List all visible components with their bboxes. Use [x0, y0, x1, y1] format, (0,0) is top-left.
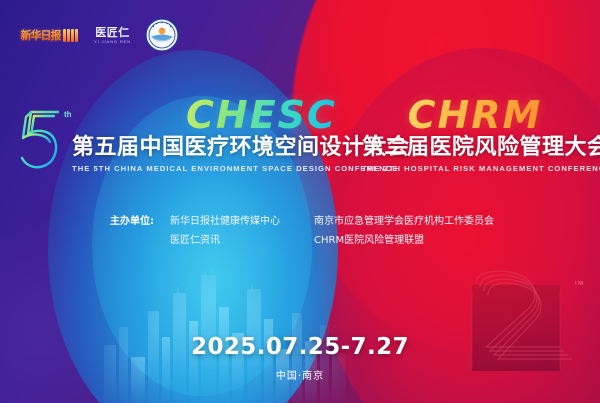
- conference-poster: TM 新华日报 医匠仁 YI JIANG REN: [0, 0, 600, 403]
- organizers-column-one: 新华日报社健康传媒中心 医匠仁资讯: [170, 212, 280, 250]
- trademark-symbol: TM: [574, 281, 583, 287]
- news-logo-bars: [63, 29, 78, 42]
- title-cn-chesc: 第五届中国医疗环境空间设计大会: [72, 135, 362, 160]
- event-location: 中国·南京: [0, 367, 600, 382]
- yijiangren-logo-cn: 医匠仁: [94, 27, 131, 38]
- yijiangren-logo-en: YI JIANG REN: [94, 40, 131, 44]
- title-cn-chrm: 第二届医院风险管理大会: [362, 135, 588, 160]
- edition-number-5-icon: [14, 104, 70, 174]
- edition-suffix: th: [64, 110, 72, 119]
- sponsor-logo-strip: 新华日报 医匠仁 YI JIANG REN: [18, 18, 179, 52]
- organizer-item: CHRM医院风险管理联盟: [314, 231, 494, 250]
- acronym-chesc: CHESC: [186, 96, 362, 134]
- news-logo-text: 新华日报: [21, 27, 61, 43]
- title-en-chesc: THE 5TH CHINA MEDICAL ENVIRONMENT SPACE …: [72, 164, 362, 173]
- organizer-item: 新华日报社健康传媒中心: [170, 212, 280, 231]
- organizers-label: 主办单位:: [110, 212, 154, 231]
- acronym-chrm: CHRM: [362, 96, 588, 134]
- organizers-section: 主办单位: 新华日报社健康传媒中心 医匠仁资讯 南京市应急管理学会医疗机构工作委…: [110, 212, 494, 250]
- yijiangren-logo: 医匠仁 YI JIANG REN: [94, 27, 131, 44]
- institution-seal-icon: [145, 18, 179, 52]
- organizer-item: 医匠仁资讯: [170, 231, 280, 250]
- xinhua-daily-logo: 新华日报: [18, 24, 80, 46]
- conference-block-chrm: CHRM 第二届医院风险管理大会 THE 2TH HOSPITAL RISK M…: [362, 96, 588, 173]
- organizers-column-two: 南京市应急管理学会医疗机构工作委员会 CHRM医院风险管理联盟: [314, 212, 494, 250]
- organizer-item: 南京市应急管理学会医疗机构工作委员会: [314, 212, 494, 231]
- event-date: 2025.07.25-7.27: [0, 336, 600, 359]
- event-datetime-section: 2025.07.25-7.27 中国·南京: [0, 336, 600, 382]
- conference-block-chesc: th CHESC 第五届中国医疗环境空间设计大会 THE 5TH CHINA M…: [14, 96, 354, 174]
- title-en-chrm: THE 2TH HOSPITAL RISK MANAGEMENT CONFERE…: [362, 164, 588, 173]
